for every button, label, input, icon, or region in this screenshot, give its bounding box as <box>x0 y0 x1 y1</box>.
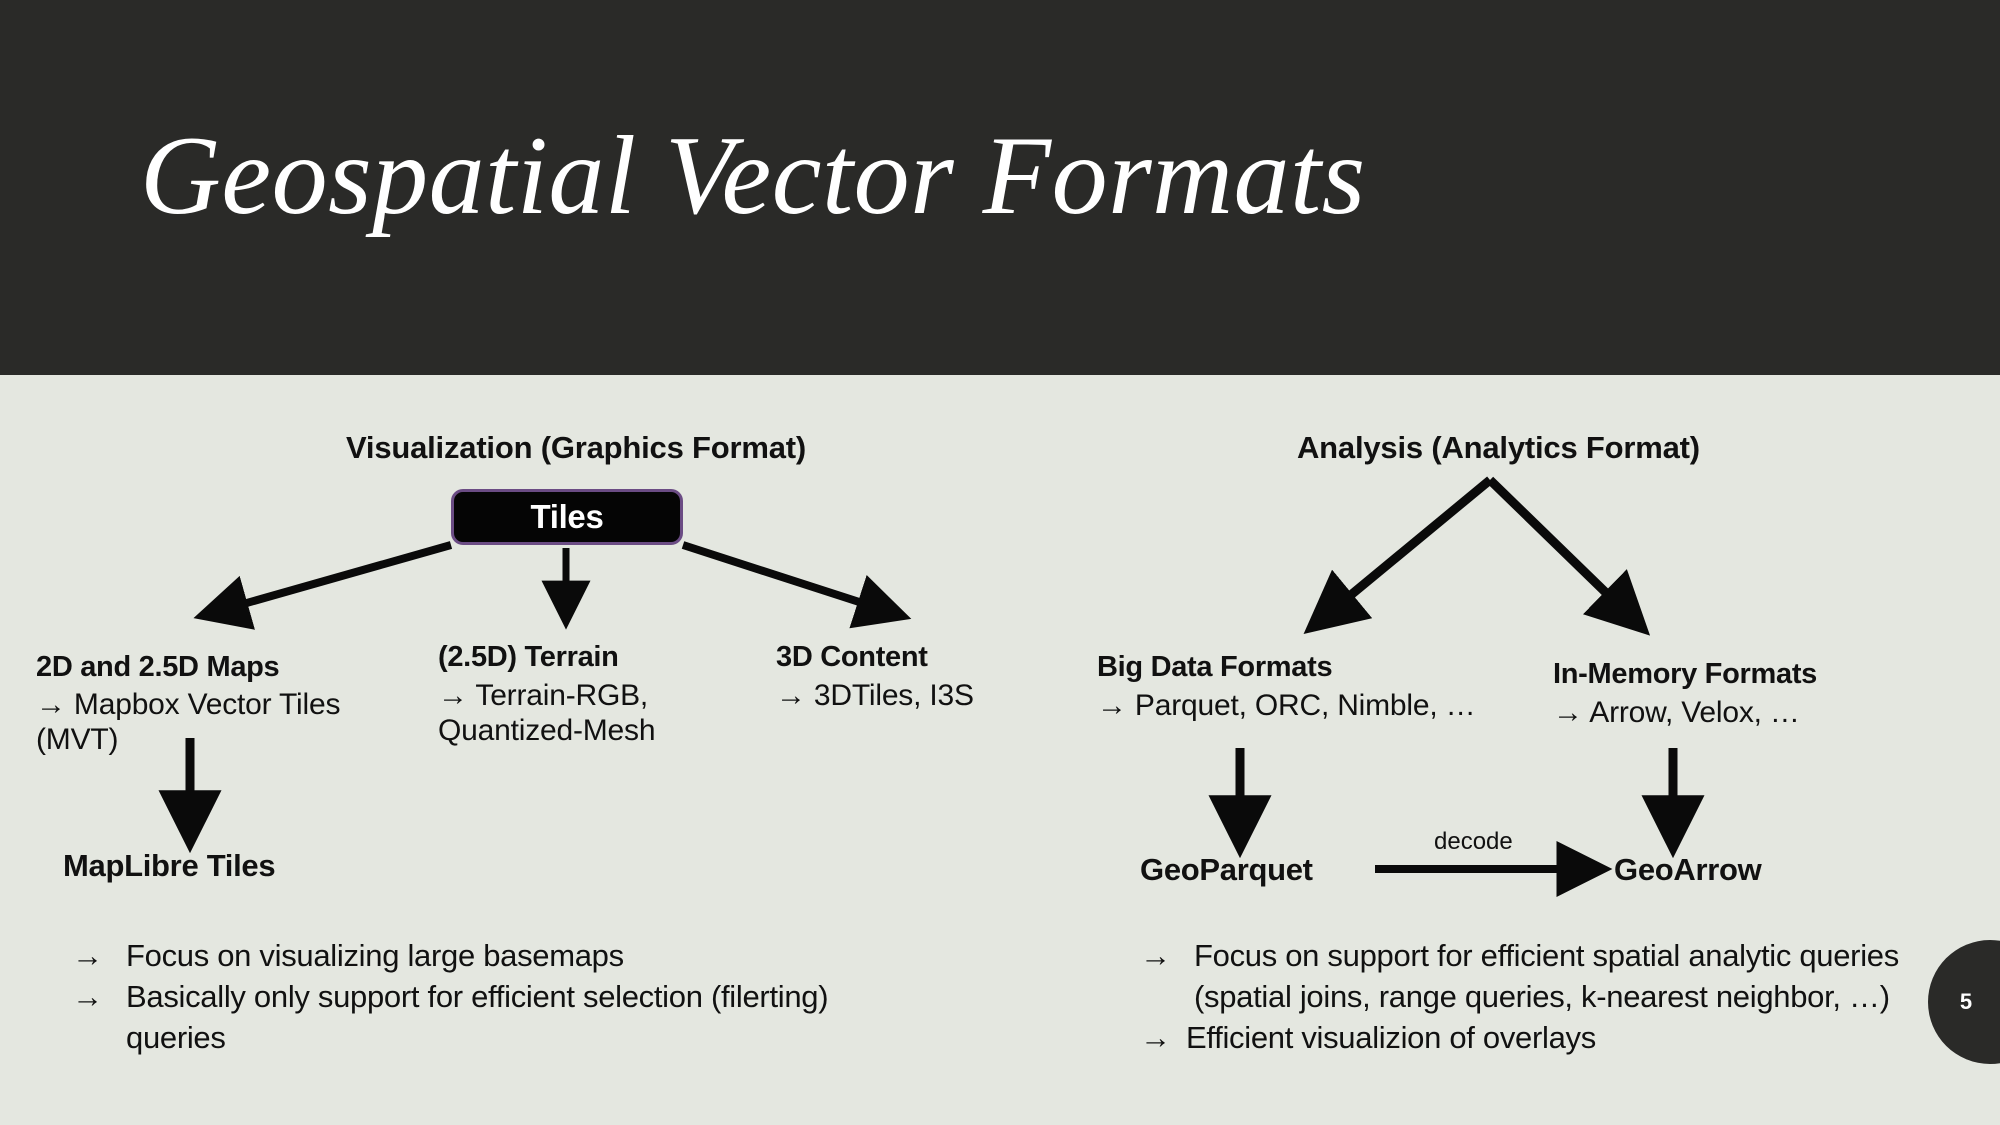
arrow-right-icon: → <box>72 935 103 976</box>
arrow-tiles-to-3d <box>683 545 890 612</box>
arrow-right-icon: → <box>1140 935 1171 976</box>
left-bullet-2: → Basically only support for efficient s… <box>72 976 862 1058</box>
node-geoparquet: GeoParquet <box>1140 852 1313 888</box>
edge-label-decode: decode <box>1434 828 1513 856</box>
left-col3-title: 3D Content <box>776 641 928 674</box>
node-maplibre-tiles: MapLibre Tiles <box>63 848 275 884</box>
right-bullet-2-text: Efficient visualizion of overlays <box>1186 1020 1596 1055</box>
arrow-analysis-to-inmemory <box>1490 480 1632 618</box>
left-bullet-1-text: Focus on visualizing large basemaps <box>126 938 624 973</box>
left-bullet-list: → Focus on visualizing large basemaps → … <box>72 935 862 1059</box>
page-number-badge: 5 <box>1928 940 2000 1064</box>
right-group-heading: Analysis (Analytics Format) <box>1297 430 1700 466</box>
right-bullet-1-text: Focus on support for efficient spatial a… <box>1194 938 1899 1014</box>
arrow-tiles-to-2d <box>215 545 451 612</box>
left-bullet-1: → Focus on visualizing large basemaps <box>72 935 862 976</box>
slide-title: Geospatial Vector Formats <box>140 118 1366 236</box>
left-col3-detail: → 3DTiles, I3S <box>776 678 986 713</box>
left-col1-detail: → Mapbox Vector Tiles (MVT) <box>36 687 408 757</box>
left-col2-title: (2.5D) Terrain <box>438 641 619 674</box>
node-tiles[interactable]: Tiles <box>451 489 683 545</box>
right-col2-title: In-Memory Formats <box>1553 658 1817 691</box>
left-col2-detail: → Terrain-RGB, Quantized-Mesh <box>438 678 738 748</box>
page-number-label: 5 <box>1960 989 1972 1015</box>
right-bullet-1: → Focus on support for efficient spatial… <box>1140 935 1910 1017</box>
right-bullet-list: → Focus on support for efficient spatial… <box>1140 935 1910 1059</box>
left-col1-title: 2D and 2.5D Maps <box>36 651 279 684</box>
left-bullet-2-text: Basically only support for efficient sel… <box>126 979 828 1055</box>
arrow-right-icon: → <box>1140 1017 1171 1058</box>
arrow-right-icon: → <box>72 976 103 1017</box>
right-col2-detail: → Arrow, Velox, … <box>1553 695 1923 730</box>
left-group-heading: Visualization (Graphics Format) <box>346 430 806 466</box>
arrow-analysis-to-bigdata <box>1323 480 1490 618</box>
node-geoarrow: GeoArrow <box>1614 852 1761 888</box>
right-col1-title: Big Data Formats <box>1097 651 1332 684</box>
slide: Geospatial Vector Formats Visuali <box>0 0 2000 1125</box>
node-tiles-label: Tiles <box>530 498 603 536</box>
right-col1-detail: → Parquet, ORC, Nimble, … <box>1097 688 1547 723</box>
right-bullet-2: → Efficient visualizion of overlays <box>1140 1017 1910 1058</box>
